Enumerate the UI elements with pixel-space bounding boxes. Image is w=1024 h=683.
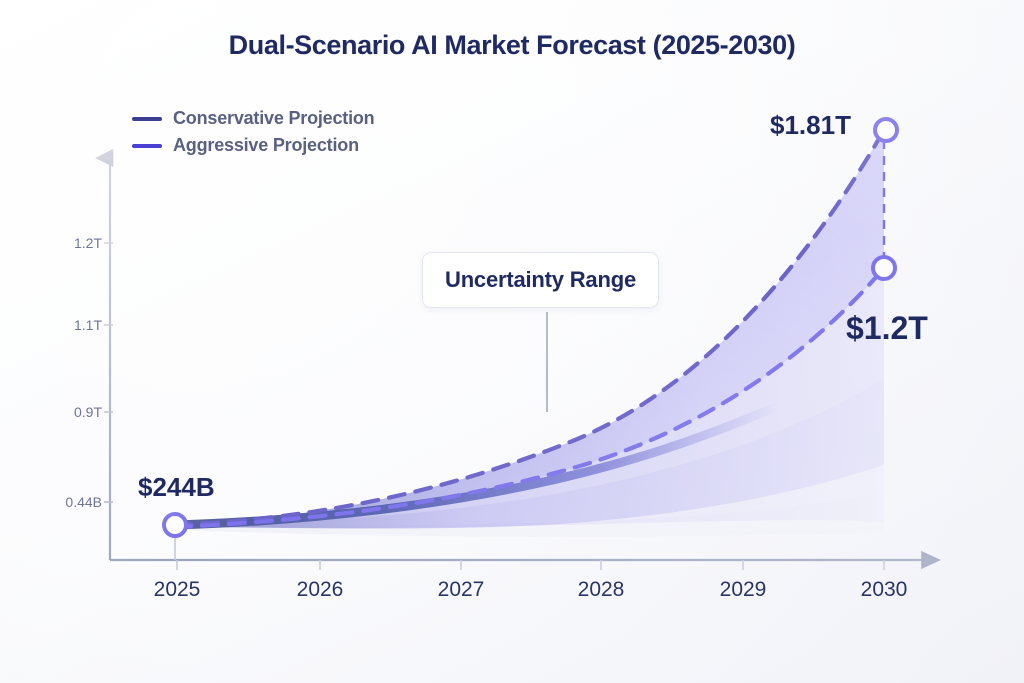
y-tick-label-3: 0.9T	[74, 404, 102, 420]
chart-title: Dual-Scenario AI Market Forecast (2025-2…	[0, 30, 1024, 61]
x-tick-label-2027: 2027	[438, 578, 485, 602]
y-axis-ticks	[104, 243, 113, 502]
y-axis-tick-labels: 1.2T 1.1T 0.9T 0.44B	[0, 0, 102, 683]
legend-swatch-conservative	[132, 117, 162, 121]
y-tick-label-1: 1.2T	[74, 235, 102, 251]
chart-legend: Conservative Projection Aggressive Proje…	[132, 105, 374, 159]
x-tick-label-2026: 2026	[297, 578, 344, 602]
legend-item-conservative[interactable]: Conservative Projection	[132, 105, 374, 132]
value-label-start: $244B	[138, 472, 215, 503]
x-tick-label-2025: 2025	[154, 578, 201, 602]
uncertainty-range-callout-text: Uncertainty Range	[445, 267, 636, 292]
x-tick-label-2029: 2029	[720, 578, 767, 602]
legend-label-aggressive: Aggressive Projection	[173, 135, 359, 156]
marker-aggressive-2030[interactable]	[875, 119, 897, 141]
y-tick-label-2: 1.1T	[74, 317, 102, 333]
legend-swatch-aggressive	[132, 144, 162, 148]
legend-item-aggressive[interactable]: Aggressive Projection	[132, 132, 374, 159]
value-label-aggressive-end: $1.81T	[770, 110, 851, 141]
x-tick-label-2030: 2030	[861, 578, 908, 602]
marker-start-2025[interactable]	[164, 514, 186, 536]
uncertainty-range-callout[interactable]: Uncertainty Range	[422, 252, 659, 308]
x-axis-ticks	[177, 560, 884, 570]
y-tick-label-4: 0.44B	[65, 494, 102, 510]
x-tick-label-2028: 2028	[578, 578, 625, 602]
value-label-conservative-end: $1.2T	[846, 310, 928, 347]
chart-canvas: Dual-Scenario AI Market Forecast (2025-2…	[0, 0, 1024, 683]
legend-label-conservative: Conservative Projection	[173, 108, 374, 129]
marker-conservative-2030[interactable]	[873, 257, 895, 279]
